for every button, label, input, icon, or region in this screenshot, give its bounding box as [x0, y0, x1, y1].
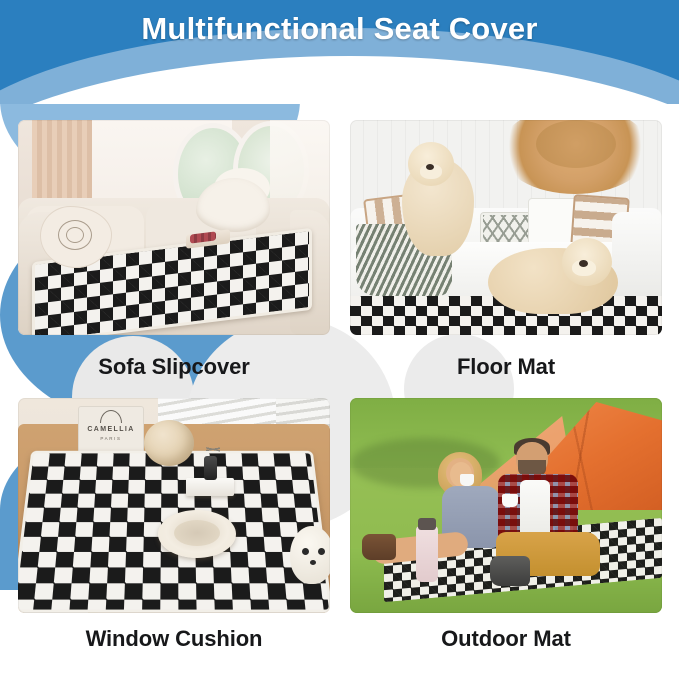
panda-eye-left [302, 548, 309, 555]
photo-sofa-slipcover [18, 120, 330, 335]
woman-boot [362, 534, 396, 560]
rattan-wall-disc-core [536, 120, 616, 168]
photo-window-cushion: CAMELLIA PARIS [18, 398, 330, 613]
page-title: Multifunctional Seat Cover [0, 11, 679, 47]
caption-window-cushion: Window Cushion [18, 613, 330, 665]
water-bottle [416, 526, 438, 582]
cloud-pillow [196, 178, 270, 232]
pet-bed-interior [174, 520, 220, 546]
decorative-wooden-ball [144, 420, 194, 466]
panda-eye-right [318, 548, 325, 555]
caption-floor-mat: Floor Mat [350, 335, 662, 398]
man-hiking-boot [490, 556, 530, 586]
water-bottle-cap [418, 518, 436, 530]
caption-outdoor-mat: Outdoor Mat [350, 613, 662, 665]
stacked-books [186, 478, 234, 496]
flower-pillow-petal-inner [66, 227, 84, 243]
reed-diffuser-bottle [204, 456, 217, 480]
product-use-case-grid: Sofa Slipcover Floor Mat CAMELLIA PARIS [18, 120, 662, 665]
photo-floor-mat [350, 120, 662, 335]
camellia-pillow-subtitle: PARIS [81, 436, 141, 441]
product-infographic: Multifunctional Seat Cover [0, 0, 679, 679]
reed-diffuser-sticks [206, 440, 220, 458]
photo-outdoor-mat [350, 398, 662, 613]
camellia-pillow-title: CAMELLIA [81, 426, 141, 433]
sofa-arm [612, 212, 662, 304]
caption-sofa-slipcover: Sofa Slipcover [18, 335, 330, 398]
man-mug [502, 494, 518, 507]
panda-nose [310, 560, 316, 565]
woman-mug [460, 474, 474, 486]
dog-sitting-nose [426, 164, 434, 170]
dog-lying-nose [579, 260, 588, 267]
panda-plush [290, 526, 330, 584]
